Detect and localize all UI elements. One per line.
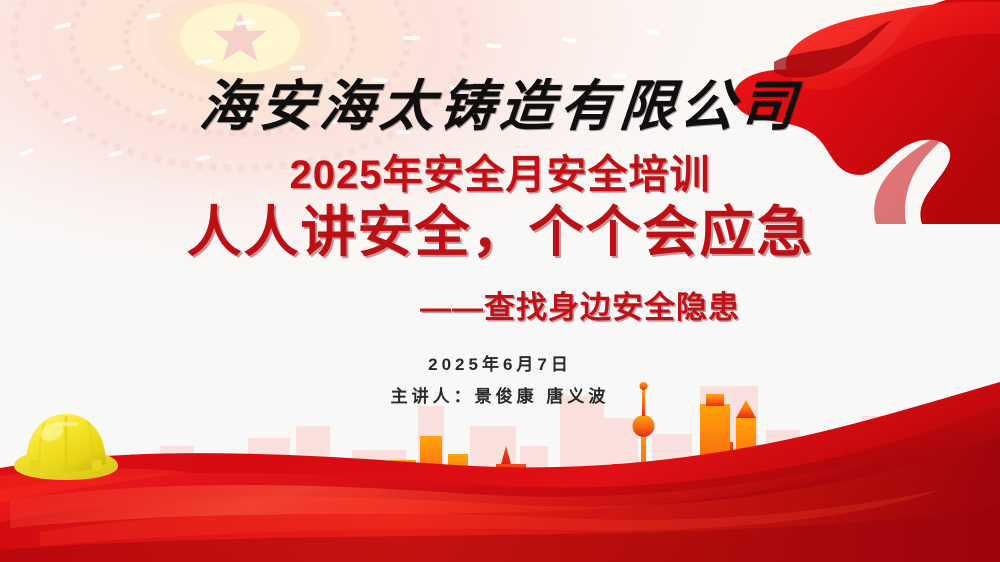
company-title: 海安海太铸造有限公司 — [0, 78, 1000, 133]
presentation-slide: 海安海太铸造有限公司 2025年安全月安全培训 人人讲安全，个个会应急 ——查找… — [0, 0, 1000, 562]
presenter-names: 主讲人：景俊康 唐义波 — [0, 388, 1000, 405]
slide-text-content: 海安海太铸造有限公司 2025年安全月安全培训 人人讲安全，个个会应急 ——查找… — [0, 0, 1000, 430]
safety-slogan: 人人讲安全，个个会应急 — [0, 205, 1000, 260]
event-date: 2025年6月7日 — [0, 356, 1000, 373]
course-subtitle: 2025年安全月安全培训 — [0, 155, 1000, 195]
slide-tagline: ——查找身边安全隐患 — [0, 292, 1000, 323]
